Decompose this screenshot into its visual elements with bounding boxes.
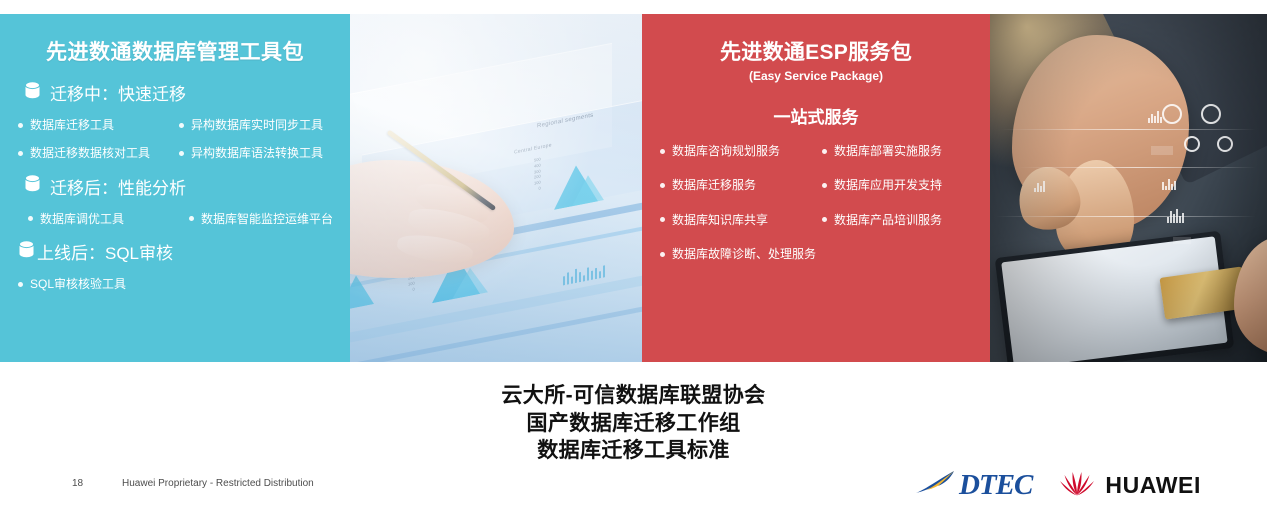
teal-panel-title: 先进数通数据库管理工具包 [14, 36, 336, 66]
photo-hud-ring-icon [1201, 104, 1221, 124]
bullet-dot-icon [28, 216, 33, 221]
list-item: SQL审核核验工具 [14, 270, 336, 298]
teal-bullets-sql: SQL审核核验工具 [14, 270, 336, 298]
bullet-dot-icon [660, 252, 665, 257]
headline-line-1: 云大所-可信数据库联盟协会 [0, 382, 1267, 410]
photo-hud-bar-chart [1148, 111, 1162, 123]
page-title: 云大所-可信数据库联盟协会 国产数据库迁移工作组 数据库迁移工具标准 [0, 382, 1267, 465]
teal-section-heading-performance: 迁移后：性能分析 [24, 174, 336, 199]
logo-group: DTEC HUAWEI [914, 468, 1201, 503]
list-item-label: 数据库故障诊断、处理服务 [672, 247, 816, 261]
banner-strip: 先进数通数据库管理工具包 迁移中：快速迁移 数据库迁移工具 [0, 14, 1267, 362]
teal-panel: 先进数通数据库管理工具包 迁移中：快速迁移 数据库迁移工具 [0, 14, 350, 362]
list-item-label: 数据库迁移工具 [30, 118, 114, 132]
red-panel-subtitle: (Easy Service Package) [654, 69, 978, 83]
bullet-dot-icon [18, 151, 23, 156]
list-item-label: 数据库部署实施服务 [834, 144, 942, 158]
slide-root: 先进数通数据库管理工具包 迁移中：快速迁移 数据库迁移工具 [0, 0, 1267, 510]
list-item: 异构数据库语法转换工具 [175, 139, 336, 167]
photo-hud-block [1173, 237, 1191, 244]
list-item: 数据库应用开发支持 [816, 168, 978, 202]
huawei-logo: HUAWEI [1058, 468, 1201, 503]
red-bullets: 数据库咨询规划服务 数据库部署实施服务 数据库迁移服务 数据库应用开发支持 数据… [654, 134, 978, 272]
photo-hud-ring-icon [1217, 136, 1233, 152]
photo-area-chart [554, 154, 614, 215]
bullet-dot-icon [822, 183, 827, 188]
bullet-dot-icon [18, 123, 23, 128]
photo-hud-line [1018, 167, 1256, 168]
list-item: 数据库咨询规划服务 [654, 134, 816, 168]
page-number: 18 [72, 478, 83, 489]
red-panel: 先进数通ESP服务包 (Easy Service Package) 一站式服务 … [642, 14, 990, 362]
red-panel-title: 先进数通ESP服务包 [654, 36, 978, 66]
list-item: 数据库迁移工具 [14, 111, 175, 139]
teal-section-label: 上线后：SQL审核 [37, 239, 173, 264]
list-item-label: 数据库智能监控运维平台 [201, 212, 333, 226]
photo-tablet-interaction [990, 14, 1267, 362]
bullet-dot-icon [189, 216, 194, 221]
list-item: 异构数据库实时同步工具 [175, 111, 336, 139]
list-item-label: 数据库迁移服务 [672, 178, 756, 192]
list-item: 数据库知识库共享 [654, 203, 816, 237]
list-item-label: 数据库知识库共享 [672, 213, 768, 227]
teal-bullets-performance: 数据库调优工具 数据库智能监控运维平台 [14, 205, 336, 233]
bullet-dot-icon [660, 149, 665, 154]
photo-hud-line [1001, 129, 1256, 130]
photo-hud-bar-chart [1034, 181, 1045, 192]
list-item: 数据库迁移服务 [654, 168, 816, 202]
list-item-label: 数据迁移数据核对工具 [30, 146, 150, 160]
photo-hud-bar-chart [1162, 178, 1176, 190]
list-item-label: 数据库产品培训服务 [834, 213, 942, 227]
list-item-label: 异构数据库实时同步工具 [191, 118, 323, 132]
list-item-label: 数据库调优工具 [40, 212, 124, 226]
slide-footer: 18 Huawei Proprietary - Restricted Distr… [0, 464, 1267, 510]
list-item: 数据库智能监控运维平台 [175, 205, 336, 233]
dtec-logo: DTEC [914, 468, 1032, 503]
huawei-flower-icon [1058, 468, 1096, 503]
headline-line-3: 数据库迁移工具标准 [0, 437, 1267, 465]
bullet-dot-icon [660, 183, 665, 188]
teal-section-heading-sql: 上线后：SQL审核 [18, 239, 336, 264]
list-item-label: 数据库应用开发支持 [834, 178, 942, 192]
proprietary-notice: Huawei Proprietary - Restricted Distribu… [122, 478, 314, 489]
bullet-dot-icon [179, 151, 184, 156]
database-icon [24, 81, 41, 105]
photo-band [350, 271, 642, 345]
list-item: 数据迁移数据核对工具 [14, 139, 175, 167]
list-item: 数据库故障诊断、处理服务 [654, 237, 978, 271]
photo-hud-ring-icon [1184, 136, 1200, 152]
bullet-dot-icon [660, 217, 665, 222]
list-item: 数据库调优工具 [14, 205, 175, 233]
teal-bullets-migrating: 数据库迁移工具 异构数据库实时同步工具 数据迁移数据核对工具 异构数据库语法转换… [14, 111, 336, 168]
red-section-heading: 一站式服务 [654, 103, 978, 128]
photo-second-hand [1234, 237, 1267, 355]
headline-line-2: 国产数据库迁移工作组 [0, 410, 1267, 438]
list-item-label: SQL审核核验工具 [30, 277, 126, 291]
arrow-swoosh-icon [914, 468, 958, 503]
list-item: 数据库部署实施服务 [816, 134, 978, 168]
database-icon [24, 174, 41, 198]
list-item-label: 数据库咨询规划服务 [672, 144, 780, 158]
teal-section-heading-migrating: 迁移中：快速迁移 [24, 80, 336, 105]
photo-analytics-handwriting: Regional segments Central Europe West Eu… [350, 14, 642, 362]
teal-section-label: 迁移中：快速迁移 [50, 80, 186, 105]
bullet-dot-icon [18, 282, 23, 287]
photo-hud-line [996, 216, 1256, 217]
bullet-dot-icon [179, 123, 184, 128]
dtec-wordmark: DTEC [959, 471, 1032, 500]
photo-chart-axis-ticks: 500 400 300 200 100 0 [534, 156, 541, 192]
bullet-dot-icon [822, 217, 827, 222]
bullet-dot-icon [822, 149, 827, 154]
photo-bar-chart [563, 260, 609, 285]
huawei-wordmark: HUAWEI [1105, 472, 1201, 499]
list-item-label: 异构数据库语法转换工具 [191, 146, 323, 160]
list-item: 数据库产品培训服务 [816, 203, 978, 237]
teal-section-label: 迁移后：性能分析 [50, 174, 186, 199]
photo-hud-block [1151, 146, 1173, 155]
database-icon [18, 240, 35, 264]
